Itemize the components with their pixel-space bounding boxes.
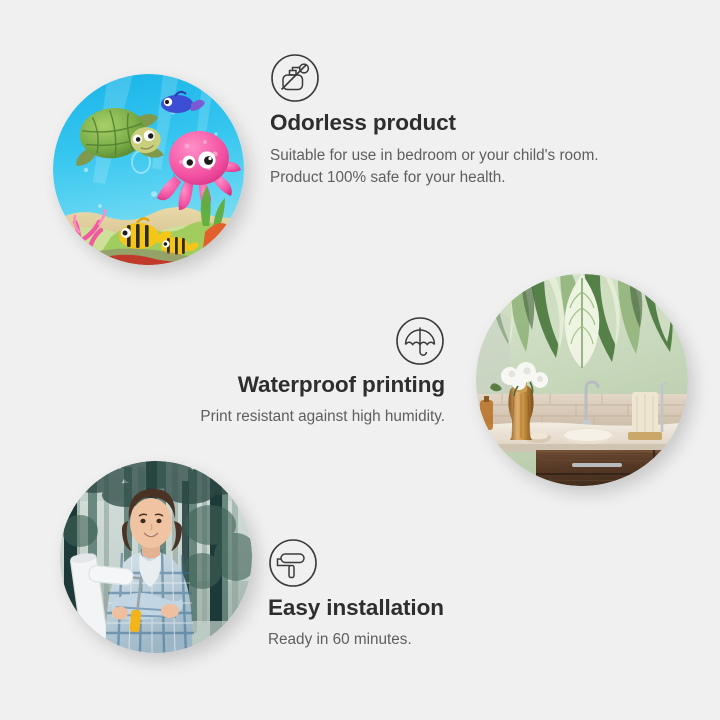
umbrella-icon (395, 316, 445, 366)
feature-description: Print resistant against high humidity. (140, 406, 445, 428)
photo-clip (476, 274, 688, 486)
feature-odorless: Odorless product Suitable for use in bed… (270, 53, 610, 189)
feature-title: Odorless product (270, 110, 610, 136)
feature-title: Easy installation (268, 595, 598, 621)
feature-panel: Odorless product Suitable for use in bed… (0, 0, 720, 720)
photo-clip (53, 74, 244, 265)
feature-description: Suitable for use in bedroom or your chil… (270, 145, 610, 189)
woman-with-paint-roller-photo (60, 461, 252, 653)
feature-waterproof: Waterproof printing Print resistant agai… (140, 316, 445, 428)
photo-clip (60, 461, 252, 653)
feature-title: Waterproof printing (140, 372, 445, 398)
no-perfume-icon (270, 53, 320, 103)
underwater-cartoon-mural-photo (53, 74, 244, 265)
bathroom-tropical-wallpaper-photo (476, 274, 688, 486)
feature-install: Easy installation Ready in 60 minutes. (268, 538, 598, 651)
feature-description: Ready in 60 minutes. (268, 629, 598, 651)
paint-roller-icon (268, 538, 318, 588)
